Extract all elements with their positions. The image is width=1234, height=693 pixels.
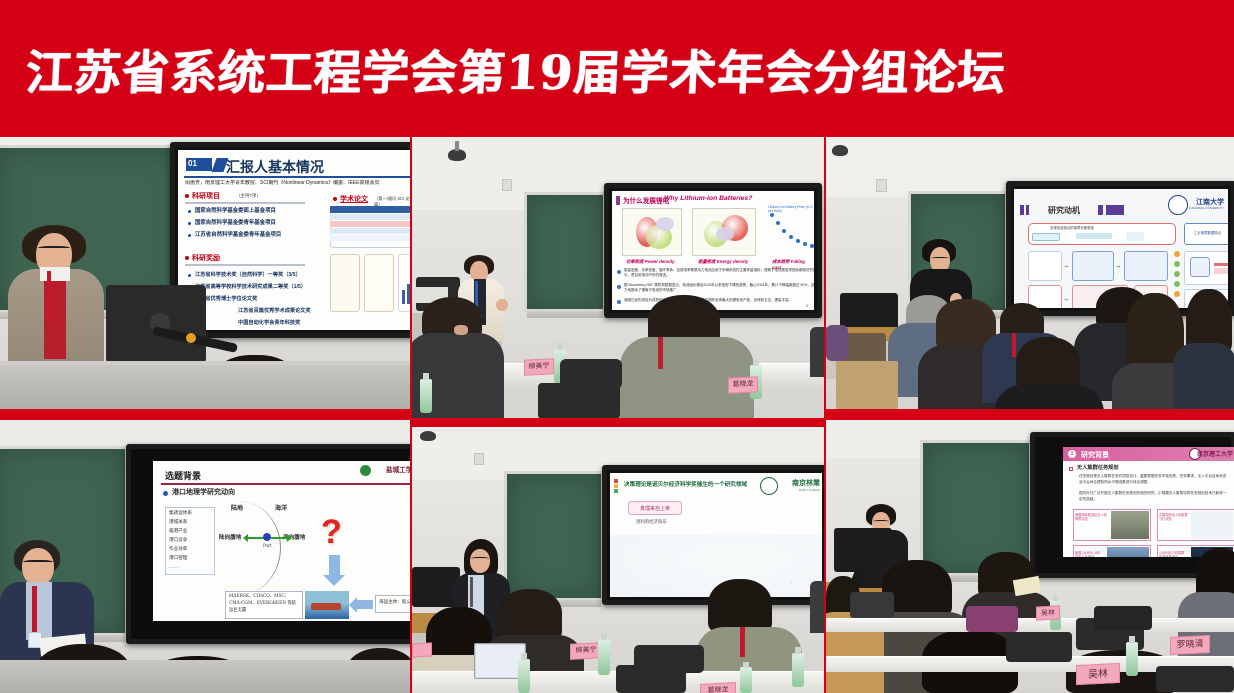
slide-paragraph-0: 任务规划是无人集群任务的顶层设计，重要根据任务环境态势、任务需求、无人平台自身状… xyxy=(1079,474,1229,486)
slide-diagram-right: 海洋 xyxy=(275,503,287,512)
slide-item-0-2: 江苏省自然科学基金委青年基金项目 xyxy=(195,231,281,239)
slide-title-cn: 为什么发展锂电 xyxy=(623,195,669,205)
slide-image-caption-0: 美国海军陆战队无人机蜂群试验 xyxy=(1075,513,1107,522)
photo-grid: 01 汇报人基本情况 闵惠芳，南京理工大学青年教授、SCI期刊《Nonlinea… xyxy=(0,137,1234,693)
slide-item-0-1: 国家自然科学基金委青年基金项目 xyxy=(195,219,276,227)
nameplate: 吴林 xyxy=(1036,605,1060,620)
slide-image-caption-3: 以色列无人机集群作战体系演示 xyxy=(1159,551,1187,557)
banner: 江苏省系统工程学会第19届学术年会分组论坛 xyxy=(0,0,1234,137)
nameplate xyxy=(412,642,432,657)
slide-2: 为什么发展锂电 Why Lithium-ion Batteries? Lithi… xyxy=(612,191,814,310)
slide-panel-0: 多源信息驱动的故障诊断框架 xyxy=(1050,225,1094,230)
photo-5: 决策理论是诺贝尔经济科学奖催生的一个研究领域 南京林業 NJFU·CHINA 真… xyxy=(412,427,824,693)
slide-caption-0: 功率密度 Power density xyxy=(626,259,675,265)
page-title: 江苏省系统工程学会第19届学术年会分组论坛 xyxy=(24,34,1007,103)
slide-highlight-box: 真理来自上帝 xyxy=(628,501,682,515)
slide-caption-1: 能量密度 Energy density xyxy=(698,259,748,265)
slide-companies-box: MAERSK、COSCO、MSC、CMA-CGM、EVERGREEN 等航运巨无… xyxy=(225,591,303,619)
slide-list-item-4: 作业效率 xyxy=(169,545,192,554)
slide-bullet: 无人集群任务规划 xyxy=(1077,464,1119,471)
slide-subtext: 逐利的经济快乐 xyxy=(636,519,667,525)
slide-title: 研究背景 xyxy=(1081,450,1109,460)
photo-6: 1 研究背景 南京理工大学 无人集群任务规划 任务规划是无人集群任务的顶层设计，… xyxy=(826,420,1234,693)
slide-section-number: 01 xyxy=(188,159,197,168)
nameplate: 葛晓龙 xyxy=(728,376,758,394)
nameplate: 罗晓清 xyxy=(1170,635,1210,655)
slide-diagram-center: Port xyxy=(263,543,272,548)
slide-diagram-left: 陆地 xyxy=(231,503,243,512)
slide-title: 研究动机 xyxy=(1048,205,1080,216)
slide-bullet-1: 据 Bloomberg NEF 等机构数据显示，电池组价格自2010年以来呈现下… xyxy=(624,283,814,294)
poster-root: 江苏省系统工程学会第19届学术年会分组论坛 01 汇报人基本情况 xyxy=(0,0,1234,693)
slide-heading-2: 学术论文 xyxy=(340,194,368,204)
slide-heading-1: 科研奖励 xyxy=(192,253,220,263)
slide-image-caption-2: 美国 DARPA 小精灵无人机项目 xyxy=(1075,551,1103,557)
slide-list-item-2: 临港产业 xyxy=(169,527,192,536)
photo-3: 研究动机 江南大学 JIANGNAN UNIVERSITY 多源信息驱动的故障诊… xyxy=(826,137,1234,409)
slide-title-en: Why Lithium-ion Batteries? xyxy=(664,195,752,202)
slide-bullet-2: 我国已经形成较为成熟的动力电池产业链条，中国目前拥有全球最大的锂电池产能，全球前… xyxy=(624,298,814,303)
slide-4: 选题背景 盐城工学院 港口地理学研究动向 集疏运体系 港城关系 临港产业 xyxy=(153,461,410,621)
slide-item-1-0: 江苏省科学技术奖（自然科学）一等奖（3/5） xyxy=(195,271,301,279)
nameplate: 葛晓龙 xyxy=(700,682,736,693)
slide-image-caption-1: 中国电科无人机集群飞行试验 xyxy=(1159,513,1189,522)
photo-4: 选题背景 盐城工学院 港口地理学研究动向 集疏运体系 港城关系 临港产业 xyxy=(0,420,410,693)
slide-question-mark: ? xyxy=(321,515,342,549)
slide-heading-0: 科研项目 xyxy=(192,191,220,201)
slide-bullet-0: 能量密度、功率密度、循环寿命、自放电率等是动力电池应用于车辆系统的主要考量指标，… xyxy=(624,268,814,279)
slide-university-logo: 盐城工学院 xyxy=(386,464,410,474)
slide-list-item-5: 港口管理 xyxy=(169,554,192,563)
slide-5: 决策理论是诺贝尔经济科学奖催生的一个研究领域 南京林業 NJFU·CHINA 真… xyxy=(610,473,822,597)
slide-1: 01 汇报人基本情况 闵惠芳，南京理工大学青年教授、SCI期刊《Nonlinea… xyxy=(178,150,410,330)
slide-paragraph-1: 国内外已广泛开展无人集群任务规划的相关研究，小规模无人集群协同任务规划技术已取得… xyxy=(1079,491,1229,503)
slide-item-1-4: 中国自动化学会青年科技奖 xyxy=(238,319,300,327)
slide-diagram-left-arrow: 陆向腹地 xyxy=(219,533,241,541)
photo-1: 01 汇报人基本情况 闵惠芳，南京理工大学青年教授、SCI期刊《Nonlinea… xyxy=(0,137,410,409)
slide-list-item-6: …… xyxy=(169,563,192,572)
nameplate: 吴林 xyxy=(1076,663,1120,685)
slide-list-item-0: 集疏运体系 xyxy=(169,509,192,518)
photo-2: 为什么发展锂电 Why Lithium-ion Batteries? Lithi… xyxy=(412,137,824,418)
slide-intro: 闵惠芳，南京理工大学青年教授、SCI期刊《Nonlinear Dynamics》… xyxy=(185,180,379,188)
slide-chart-label: Lithium-ion Battery Price (U.S per kWh) xyxy=(768,205,814,213)
slide-item-1-1: 江苏省高等学校科学技术研究成果二等奖（1/5） xyxy=(195,283,306,291)
slide-item-0-0: 国家自然科学基金委面上基金项目 xyxy=(195,207,276,215)
slide-title: 选题背景 xyxy=(165,469,201,482)
slide-title: 决策理论是诺贝尔经济科学奖催生的一个研究领域 xyxy=(624,480,747,488)
slide-university-logo: 南京理工大学 xyxy=(1197,449,1233,458)
slide-item-1-3: 江苏省百篇优秀学术成果论文奖 xyxy=(238,307,311,315)
slide-right-box: 海运主体：船公司 xyxy=(375,595,410,613)
slide-panel-1: 工业故障数据特点 xyxy=(1194,230,1221,235)
slide-section-marker: 1 xyxy=(1068,450,1076,458)
nameplate: 柳美宁 xyxy=(524,358,554,376)
slide-heading-0-note: （主持7项） xyxy=(236,193,261,199)
slide-list-item-1: 港城关系 xyxy=(169,518,192,527)
slide-bullet: 港口地理学研究动向 xyxy=(172,487,235,497)
slide-page-number: 5 xyxy=(806,304,808,308)
slide-6: 1 研究背景 南京理工大学 无人集群任务规划 任务规划是无人集群任务的顶层设计，… xyxy=(1063,447,1234,557)
slide-title: 汇报人基本情况 xyxy=(226,157,324,177)
slide-list-item-3: 港口竞争 xyxy=(169,536,192,545)
